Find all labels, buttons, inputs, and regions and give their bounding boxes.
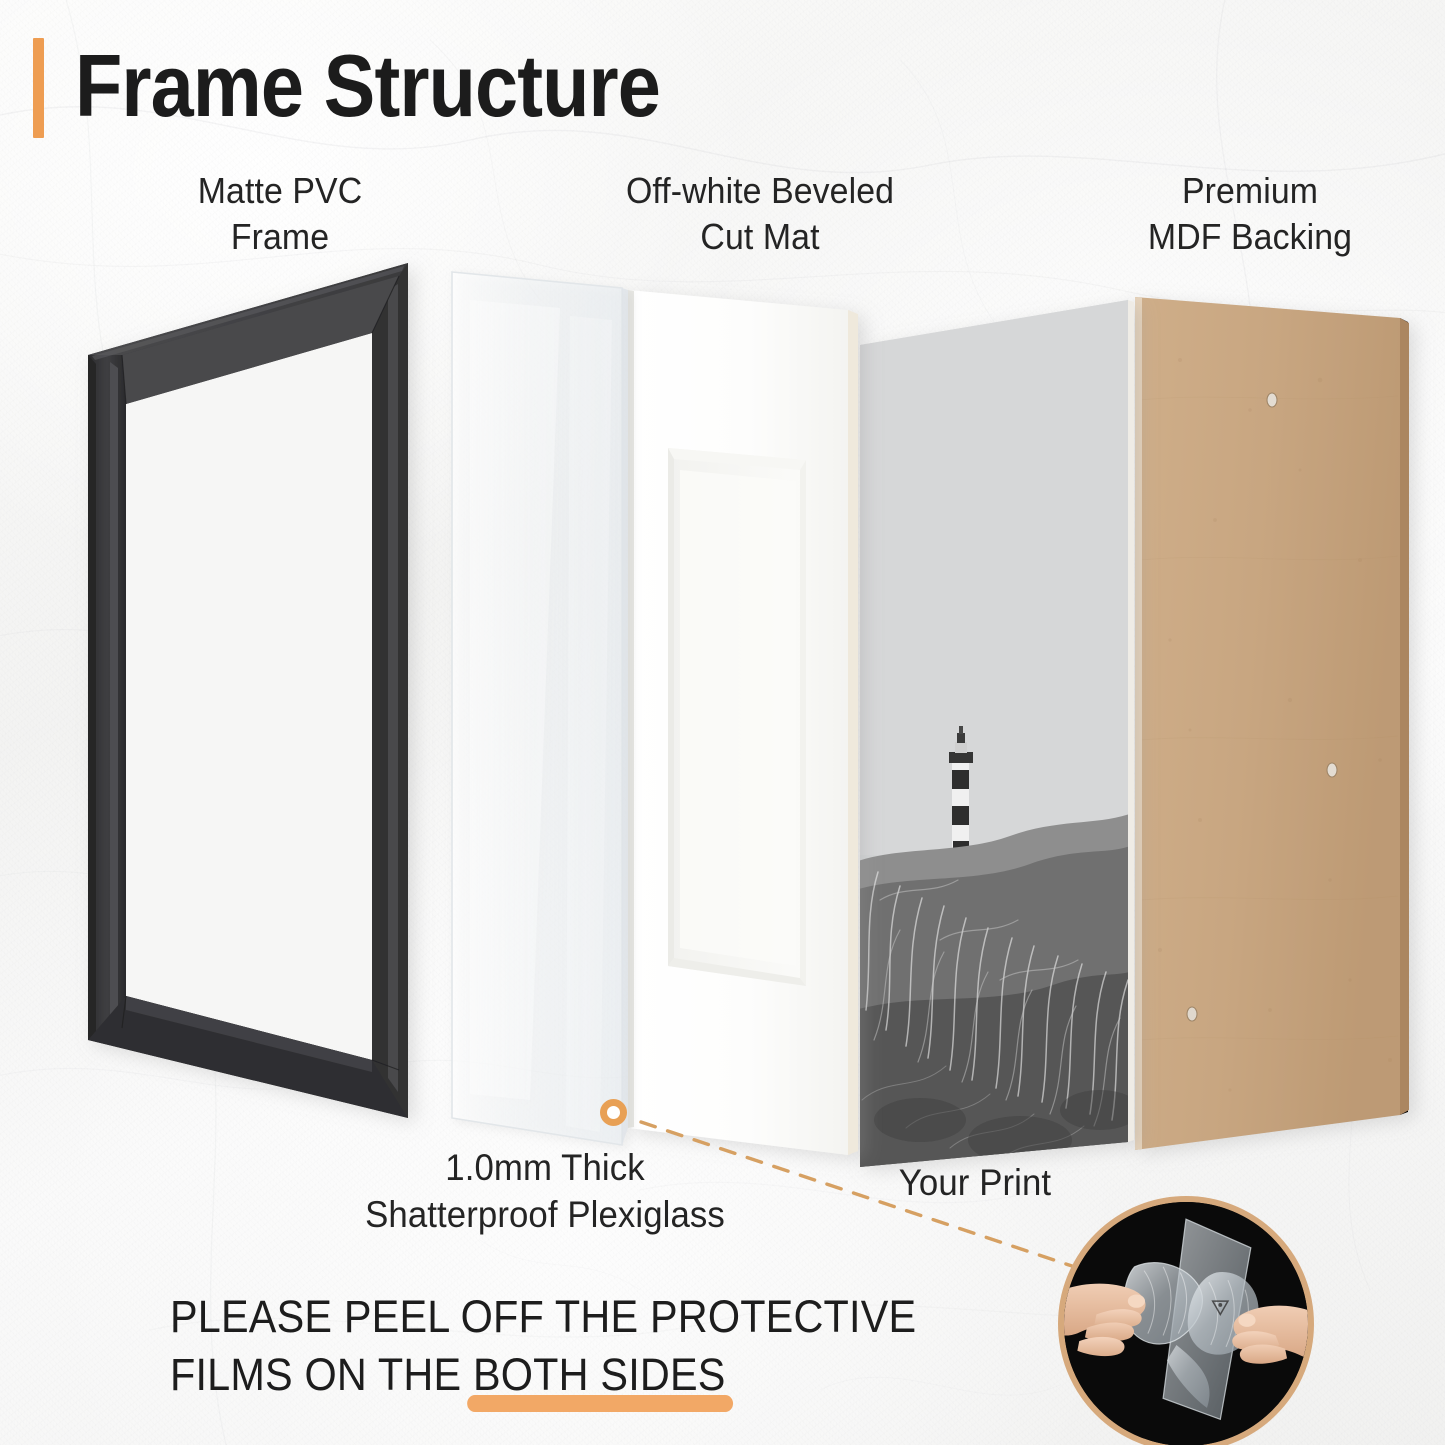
panel-pvc-frame [88,263,408,1118]
panel-plexiglass [452,272,628,1145]
peel-warning-text: PLEASE PEEL OFF THE PROTECTIVE FILMS ON … [170,1288,961,1403]
panel-cut-mat [628,290,858,1155]
warning-highlight: BOTH SIDES [473,1346,726,1404]
callout-marker-dot [600,1099,627,1126]
warning-line-2: FILMS ON THE BOTH SIDES [170,1346,961,1404]
label-your-print: Your Print [843,1160,1106,1207]
panel-mdf-backing [1135,290,1409,1160]
peel-film-photo-inset [1058,1196,1314,1445]
panel-your-print [855,295,1140,1175]
mat-window-bevel [668,448,806,986]
infographic-canvas: Frame Structure Matte PVC Frame Off-whit… [0,0,1445,1445]
warning-line-2-prefix: FILMS ON THE [170,1349,473,1400]
label-plexiglass: 1.0mm Thick Shatterproof Plexiglass [263,1145,827,1238]
lighthouse-photograph [855,295,1140,1175]
label-line-1: 1.0mm Thick [445,1147,644,1188]
label-line-2: Shatterproof Plexiglass [365,1194,725,1235]
warning-line-1: PLEASE PEEL OFF THE PROTECTIVE [170,1288,961,1346]
